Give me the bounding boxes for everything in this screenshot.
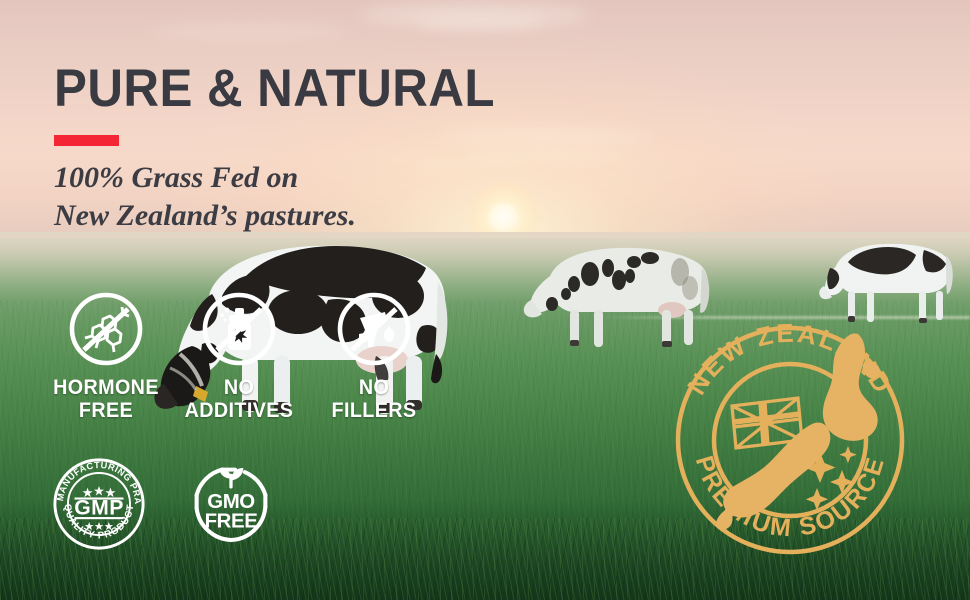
additives-bottle-no-icon bbox=[200, 290, 278, 368]
accent-rule bbox=[54, 135, 119, 146]
feature-no-additives: NO ADDITIVES bbox=[179, 290, 299, 422]
headline-block: PURE & NATURAL 100% Grass Fed on New Zea… bbox=[54, 62, 614, 235]
fillers-funnel-no-icon bbox=[335, 290, 413, 368]
svg-text:NEW ZEALAND: NEW ZEALAND bbox=[681, 318, 899, 400]
feature-label: HORMONE FREE bbox=[50, 377, 163, 422]
cloud-wisp bbox=[150, 20, 350, 42]
subtitle: 100% Grass Fed on New Zealand’s pastures… bbox=[54, 159, 614, 235]
gmo-line-2: FREE bbox=[205, 510, 258, 533]
cloud-wisp bbox=[415, 14, 545, 30]
page-title: PURE & NATURAL bbox=[54, 62, 575, 115]
nz-arc-top: NEW ZEALAND bbox=[681, 318, 899, 400]
feature-no-fillers: NO FILLERS bbox=[314, 290, 434, 422]
gmp-seal-icon: GOOD MANUFACTURING PRACTICE QUALITY PROD… bbox=[50, 455, 148, 558]
hormone-molecule-no-icon bbox=[67, 290, 145, 368]
feature-hormone-free: HORMONE FREE bbox=[46, 290, 166, 422]
pure-natural-banner: PURE & NATURAL 100% Grass Fed on New Zea… bbox=[0, 0, 970, 600]
gmp-center-label: GMP bbox=[74, 497, 124, 520]
gmo-free-sprout-icon: GMO FREE bbox=[186, 459, 276, 554]
new-zealand-premium-source-seal-icon: NEW ZEALAND PREMIUM SOURCE bbox=[662, 312, 918, 568]
gmp-stars-top bbox=[83, 486, 116, 497]
feature-label: NO ADDITIVES bbox=[183, 377, 296, 422]
feature-label: NO FILLERS bbox=[318, 377, 431, 422]
